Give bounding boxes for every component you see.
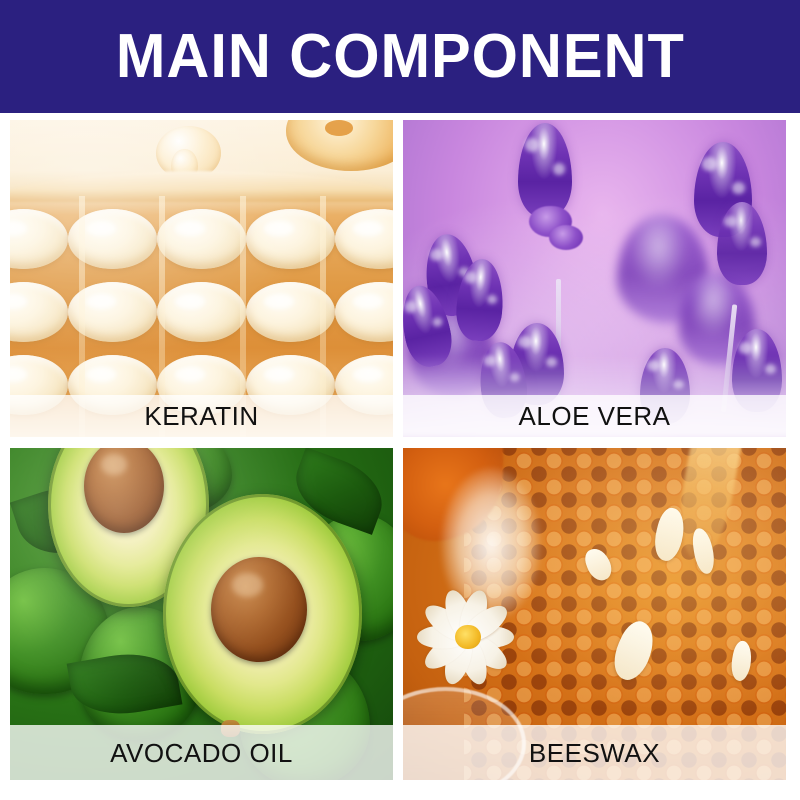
component-tile-avocado-oil[interactable]: AVOCADO OIL [10,448,393,780]
component-grid: KERATIN [10,120,790,780]
infographic-poster: MAIN COMPONENT [0,0,800,800]
gloss-overlay [10,120,393,437]
tile-label-text: BEESWAX [529,740,660,766]
tile-label-strip-keratin: KERATIN [10,395,393,437]
component-tile-keratin[interactable]: KERATIN [10,120,393,437]
tile-label-text: ALOE VERA [519,403,671,429]
component-tile-beeswax[interactable]: BEESWAX [403,448,786,780]
lavender-floret [549,225,583,250]
component-tile-aloe-vera[interactable]: ALOE VERA [403,120,786,437]
tile-label-strip-beeswax: BEESWAX [403,725,786,780]
tile-label-text: AVOCADO OIL [110,740,293,766]
page-title: MAIN COMPONENT [116,26,685,88]
keratin-image [10,120,393,437]
tile-label-strip-aloe-vera: ALOE VERA [403,395,786,437]
header-banner: MAIN COMPONENT [0,0,800,113]
aloe-vera-image [403,120,786,437]
tile-label-text: KERATIN [144,403,258,429]
tile-label-strip-avocado-oil: AVOCADO OIL [10,725,393,780]
